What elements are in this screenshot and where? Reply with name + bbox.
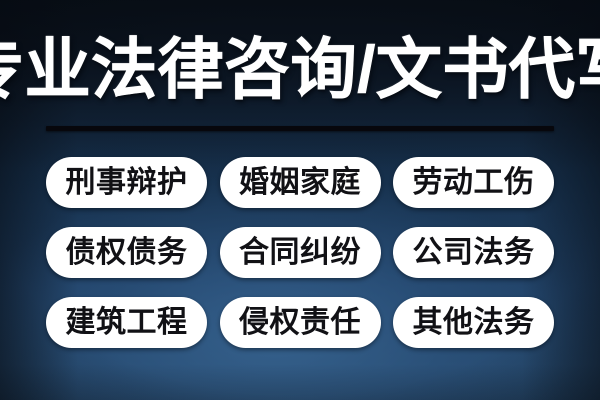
service-pill-label: 建筑工程 xyxy=(66,306,188,340)
service-pill-label: 债权债务 xyxy=(66,236,188,270)
service-pill-criminal-defense[interactable]: 刑事辩护 xyxy=(46,157,207,208)
service-pill-marriage-family[interactable]: 婚姻家庭 xyxy=(220,157,381,208)
service-pill-construction-engineering[interactable]: 建筑工程 xyxy=(46,297,207,348)
service-pill-label: 刑事辩护 xyxy=(66,166,188,200)
poster-headline: 专业法律咨询/文书代写 xyxy=(0,27,600,111)
service-pill-corporate-legal[interactable]: 公司法务 xyxy=(393,227,554,278)
headline-divider xyxy=(46,126,554,131)
service-pill-label: 公司法务 xyxy=(413,236,535,270)
service-pill-labor-injury[interactable]: 劳动工伤 xyxy=(393,157,554,208)
legal-services-poster: 专业法律咨询/文书代写 刑事辩护 婚姻家庭 劳动工伤 债权债务 合同 xyxy=(0,0,600,400)
service-pill-tort-liability[interactable]: 侵权责任 xyxy=(220,297,381,348)
service-pill-other-legal[interactable]: 其他法务 xyxy=(393,297,554,348)
service-pill-label: 其他法务 xyxy=(413,306,535,340)
poster-content: 专业法律咨询/文书代写 刑事辩护 婚姻家庭 劳动工伤 债权债务 合同 xyxy=(0,0,600,400)
service-pill-label: 婚姻家庭 xyxy=(239,166,361,200)
service-pill-grid: 刑事辩护 婚姻家庭 劳动工伤 债权债务 合同纠纷 公司法务 xyxy=(46,157,554,348)
service-pill-label: 合同纠纷 xyxy=(239,236,361,270)
service-pill-row: 刑事辩护 婚姻家庭 劳动工伤 xyxy=(46,157,554,208)
service-pill-row: 建筑工程 侵权责任 其他法务 xyxy=(46,297,554,348)
service-pill-label: 侵权责任 xyxy=(239,306,361,340)
service-pill-contract-dispute[interactable]: 合同纠纷 xyxy=(220,227,381,278)
service-pill-label: 劳动工伤 xyxy=(413,166,535,200)
service-pill-creditor-debt[interactable]: 债权债务 xyxy=(46,227,207,278)
service-pill-row: 债权债务 合同纠纷 公司法务 xyxy=(46,227,554,278)
